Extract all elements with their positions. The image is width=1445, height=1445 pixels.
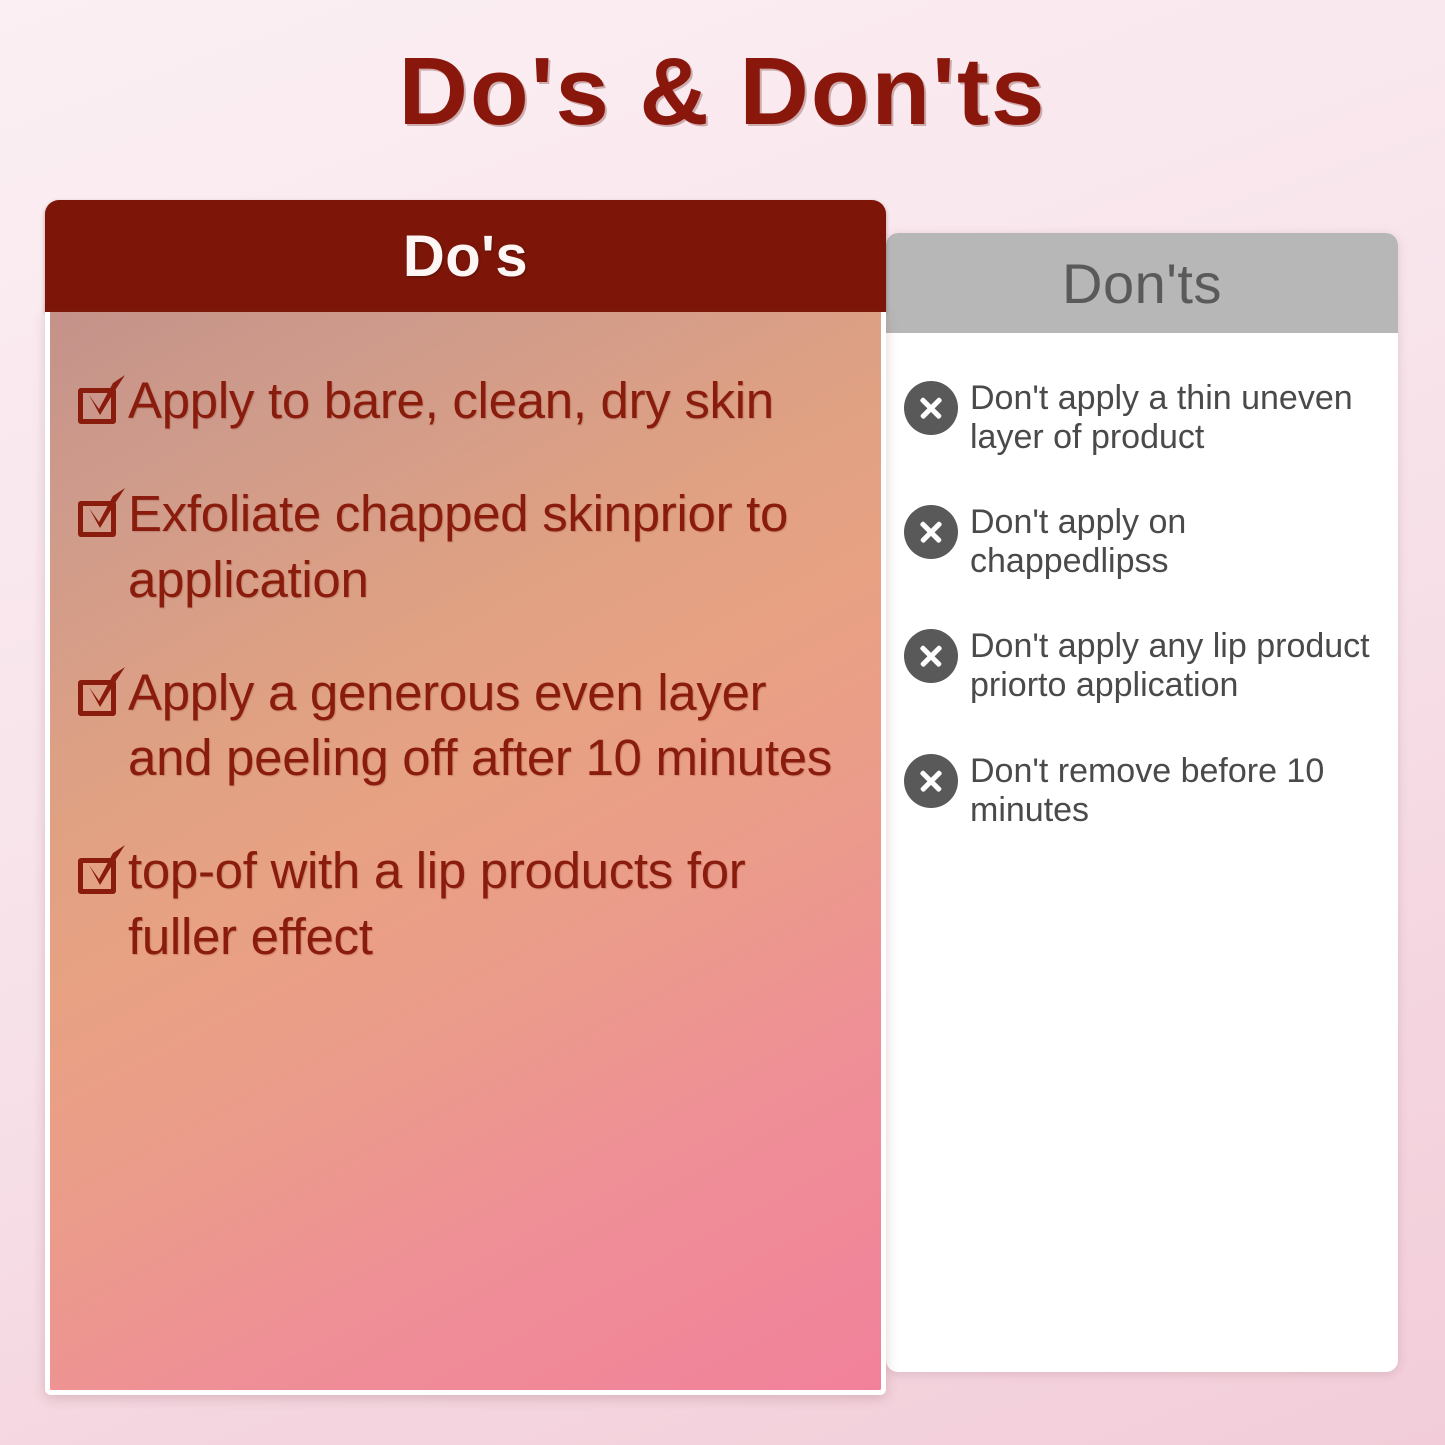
circle-x-icon bbox=[904, 505, 958, 559]
list-item: Don't apply on chappedlipss bbox=[904, 503, 1376, 581]
list-item: Exfoliate chapped skinprior to applicati… bbox=[78, 481, 851, 612]
do-item-label: Apply a generous even layer and peeling … bbox=[128, 660, 851, 791]
page-title: Do's & Don'ts bbox=[0, 42, 1445, 143]
checkbox-checked-icon bbox=[78, 852, 120, 894]
donts-list: Don't apply a thin uneven layer of produ… bbox=[886, 333, 1398, 830]
dos-header-label: Do's bbox=[403, 223, 528, 290]
dont-item-label: Don't apply on chappedlipss bbox=[970, 503, 1376, 581]
checkbox-checked-icon bbox=[78, 674, 120, 716]
dos-header: Do's bbox=[45, 200, 886, 312]
list-item: top-of with a lip products for fuller ef… bbox=[78, 838, 851, 969]
donts-header: Don'ts bbox=[886, 233, 1398, 333]
list-item: Don't remove before 10 minutes bbox=[904, 752, 1376, 830]
donts-header-label: Don'ts bbox=[1062, 251, 1222, 316]
do-item-label: Exfoliate chapped skinprior to applicati… bbox=[128, 481, 851, 612]
circle-x-icon bbox=[904, 629, 958, 683]
list-item: Apply to bare, clean, dry skin bbox=[78, 368, 851, 433]
dont-item-label: Don't apply a thin uneven layer of produ… bbox=[970, 379, 1376, 457]
list-item: Don't apply any lip product priorto appl… bbox=[904, 627, 1376, 705]
list-item: Don't apply a thin uneven layer of produ… bbox=[904, 379, 1376, 457]
checkbox-checked-icon bbox=[78, 382, 120, 424]
dont-item-label: Don't apply any lip product priorto appl… bbox=[970, 627, 1376, 705]
dos-list: Apply to bare, clean, dry skin Exfoliate… bbox=[45, 312, 886, 1395]
dos-panel: Do's Apply to bare, clean, dry skin Exfo… bbox=[45, 200, 886, 1395]
list-item: Apply a generous even layer and peeling … bbox=[78, 660, 851, 791]
dont-item-label: Don't remove before 10 minutes bbox=[970, 752, 1376, 830]
do-item-label: top-of with a lip products for fuller ef… bbox=[128, 838, 851, 969]
donts-panel: Don'ts Don't apply a thin uneven layer o… bbox=[886, 233, 1398, 1372]
do-item-label: Apply to bare, clean, dry skin bbox=[128, 368, 774, 433]
circle-x-icon bbox=[904, 754, 958, 808]
checkbox-checked-icon bbox=[78, 495, 120, 537]
circle-x-icon bbox=[904, 381, 958, 435]
